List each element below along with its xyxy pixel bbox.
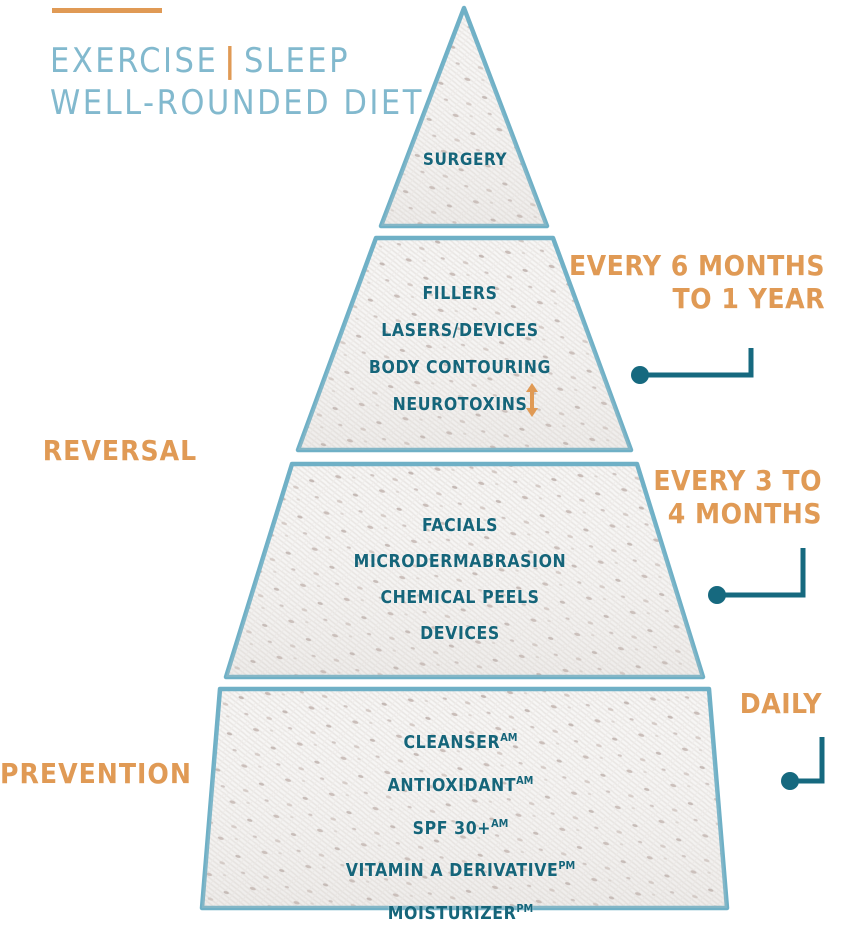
connector-tier3 [708, 548, 803, 604]
cadence-tier2-line2: TO 1 YEAR [560, 282, 825, 315]
cadence-tier2-line1: EVERY 6 MONTHS [560, 249, 825, 282]
cadence-label-tier2: EVERY 6 MONTHS TO 1 YEAR [560, 249, 825, 315]
cadence-tier3-line2: 4 MONTHS [600, 497, 822, 530]
connector-tier2 [631, 348, 751, 384]
pyramid-tier-surgery[interactable] [381, 8, 547, 226]
connector-tier4 [781, 737, 822, 790]
cadence-tier3-line1: EVERY 3 TO [600, 464, 822, 497]
stage-label-reversal: REVERSAL [0, 434, 240, 467]
pyramid-tier-prevention[interactable] [202, 689, 727, 908]
stage-label-prevention: PREVENTION [0, 757, 160, 790]
infographic-canvas: EXERCISE|SLEEP WELL-ROUNDED DIET [0, 0, 850, 917]
up-down-arrow-icon [521, 381, 543, 419]
cadence-tier4-line1: DAILY [640, 687, 822, 720]
cadence-label-tier3: EVERY 3 TO 4 MONTHS [600, 464, 822, 530]
cadence-label-tier4: DAILY [640, 687, 822, 720]
